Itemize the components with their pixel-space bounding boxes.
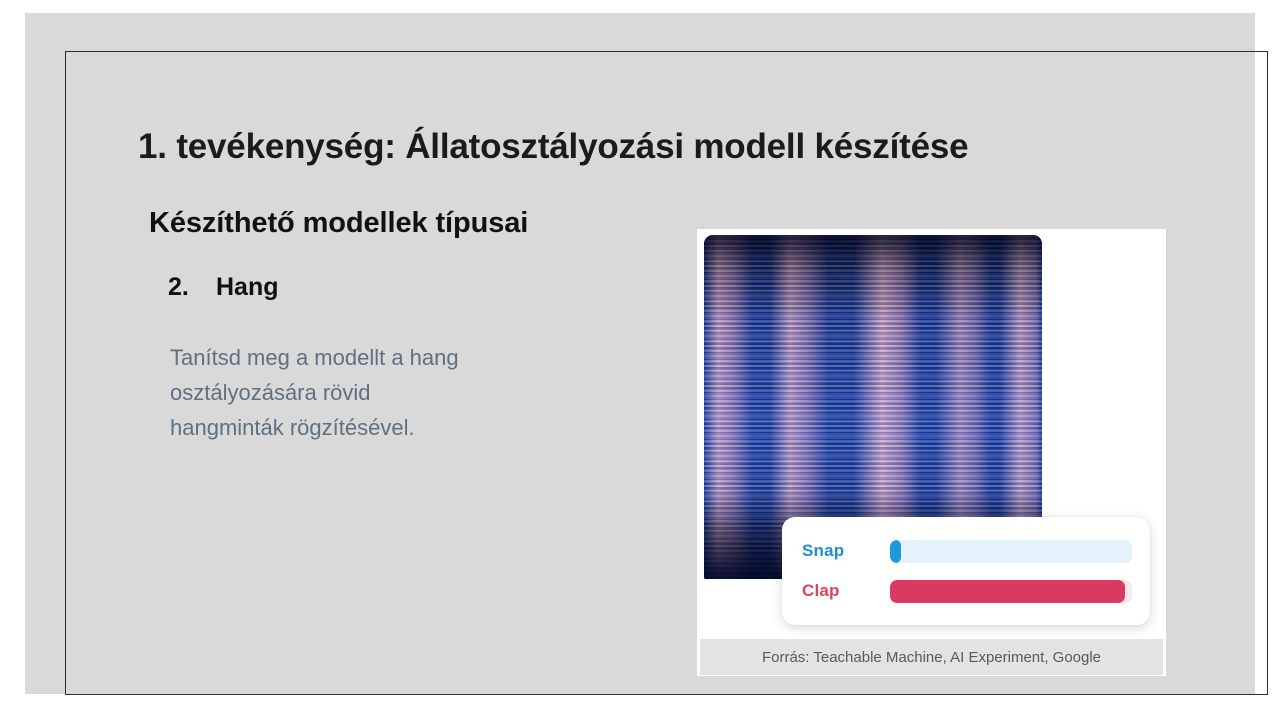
prediction-row-snap: Snap [802,535,1132,567]
prediction-card: Snap Clap [782,517,1150,625]
image-caption-text: Forrás: Teachable Machine, AI Experiment… [762,649,1101,666]
prediction-row-clap: Clap [802,575,1132,607]
image-panel: Snap Clap Forrás: Teachable Machine, AI … [697,229,1166,676]
page-title: 1. tevékenység: Állatosztályozási modell… [138,127,1148,167]
list-item-label: Hang [216,273,279,302]
body-line: osztályozására rövid [170,375,600,410]
prediction-fill-snap [890,540,901,563]
prediction-track-clap [890,580,1132,603]
body-paragraph: Tanítsd meg a modellt a hang osztályozás… [170,340,600,445]
slide-canvas: 1. tevékenység: Állatosztályozási modell… [25,13,1255,694]
prediction-fill-clap [890,580,1125,603]
section-subtitle: Készíthető modellek típusai [149,207,528,240]
prediction-track-snap [890,540,1132,563]
prediction-label-snap: Snap [802,541,890,561]
image-caption-bar: Forrás: Teachable Machine, AI Experiment… [700,639,1163,675]
body-line: Tanítsd meg a modellt a hang [170,340,600,375]
list-item-number: 2. [168,273,216,302]
list-item-hang: 2. Hang [168,273,279,302]
body-line: hangminták rögzítésével. [170,410,600,445]
prediction-label-clap: Clap [802,581,890,601]
